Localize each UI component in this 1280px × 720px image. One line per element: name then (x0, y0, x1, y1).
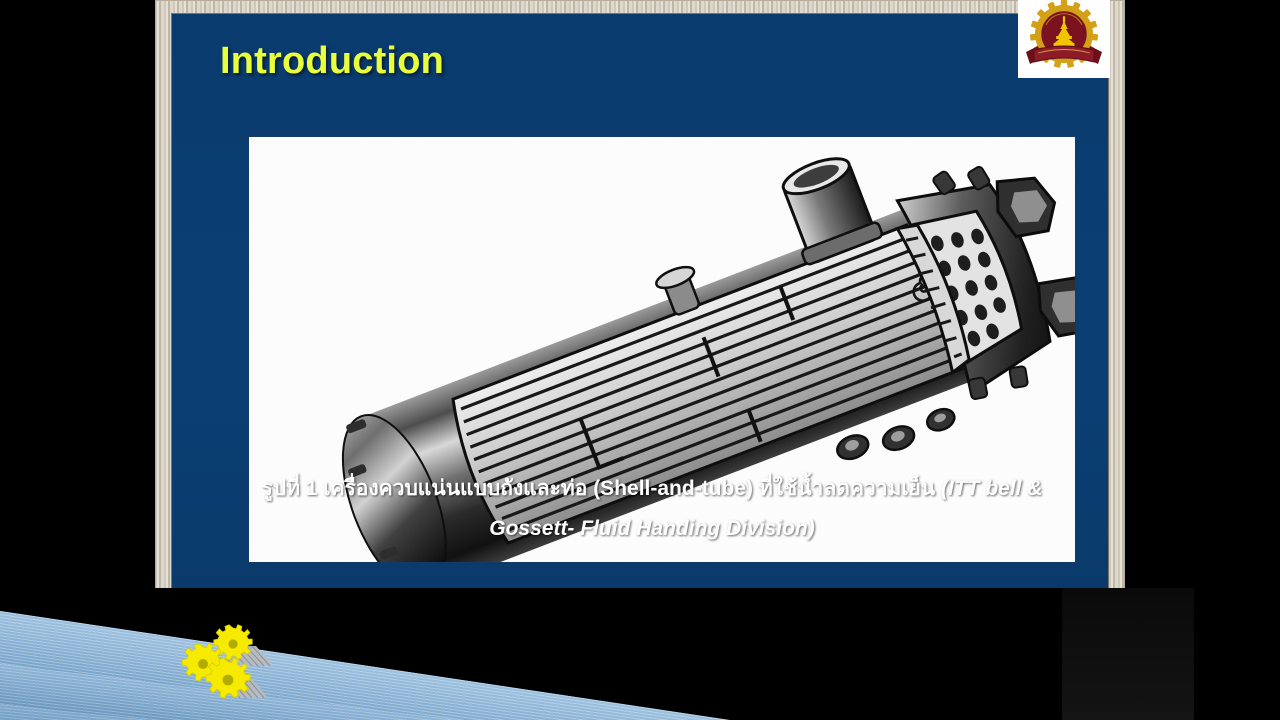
slide-picture-frame: Introduction (155, 0, 1125, 612)
university-emblem-icon: 1938 (1018, 0, 1110, 78)
caption-thai: รูปที่ 1 เครื่องควบแน่นแบบถังและท่อ (She… (261, 477, 935, 500)
caption-line-1: รูปที่ 1 เครื่องควบแน่นแบบถังและท่อ (She… (202, 469, 1102, 509)
webcam-background (1062, 588, 1194, 720)
presentation-slide: Introduction (172, 14, 1108, 612)
figure-caption: รูปที่ 1 เครื่องควบแน่นแบบถังและท่อ (She… (202, 469, 1102, 549)
page-title: Introduction (220, 40, 444, 83)
caption-line-2: Gossett- Fluid Handing Division) (202, 509, 1102, 549)
gears-icon (170, 612, 300, 707)
presenter-webcam[interactable] (1062, 588, 1194, 720)
university-logo: 1938 (1018, 0, 1110, 78)
caption-source-start: (ITT bell & (941, 477, 1043, 500)
screen-root: Introduction (0, 0, 1280, 720)
